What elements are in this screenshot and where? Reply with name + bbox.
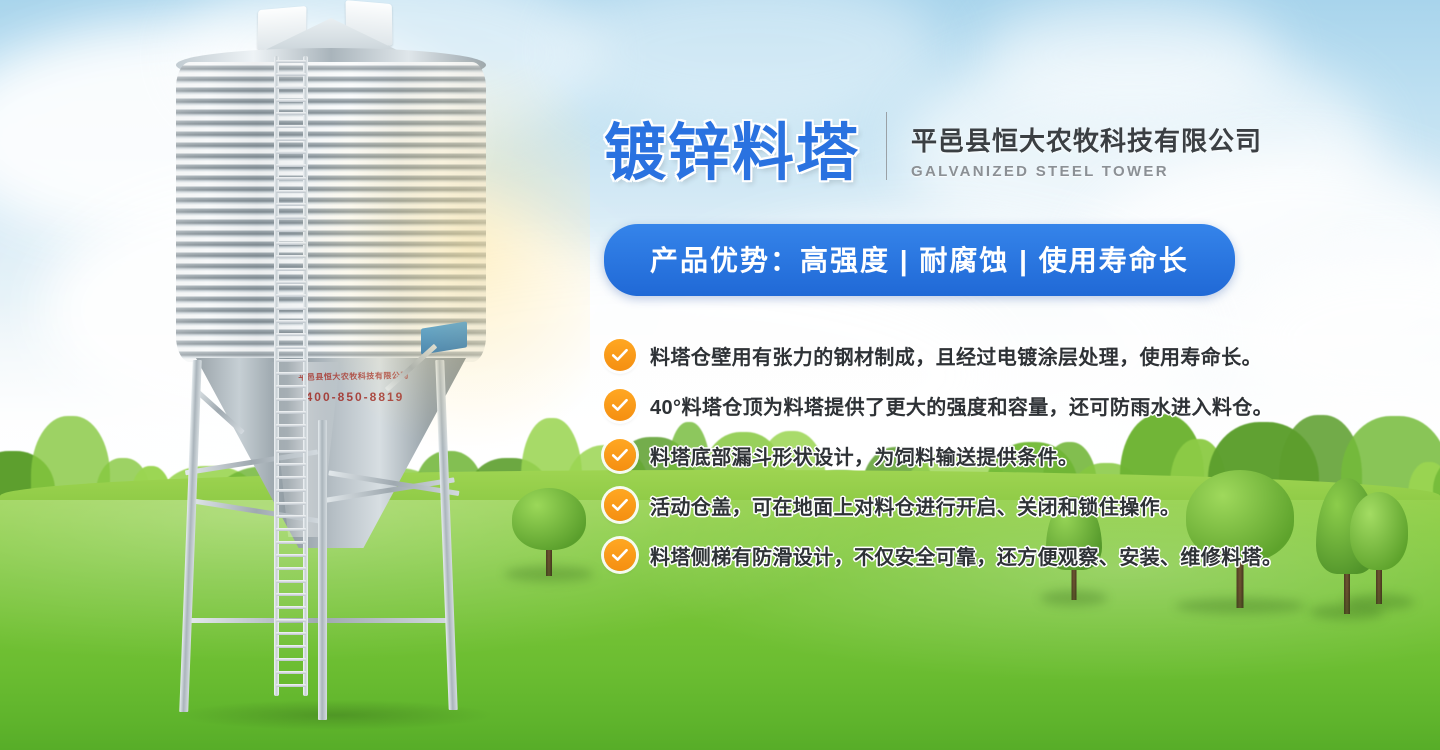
ladder-rung — [276, 632, 306, 635]
ladder-rung — [276, 554, 306, 557]
feature-text: 活动仓盖，可在地面上对料仓进行开启、关闭和锁住操作。 — [650, 491, 1180, 520]
ladder-rung — [276, 307, 306, 310]
ladder-rung — [276, 281, 306, 284]
silo-side-ladder — [274, 56, 308, 696]
hero-banner: 平邑县恒大农牧科技有限公司 400-850-8819 镀锌料塔 平邑县恒大农牧科… — [0, 0, 1440, 750]
tree-shadow — [1344, 594, 1414, 610]
ladder-rung — [276, 99, 306, 102]
ladder-rung — [276, 242, 306, 245]
tree-shadow — [1040, 590, 1107, 606]
check-circle-icon — [604, 539, 636, 571]
ladder-rung — [276, 73, 306, 76]
ladder-rung — [276, 125, 306, 128]
ladder-rung — [276, 177, 306, 180]
ladder-rung — [276, 138, 306, 141]
feature-item: 40°料塔仓顶为料塔提供了更大的强度和容量，还可防雨水进入料仓。 — [604, 380, 1304, 430]
company-name-en: GALVANIZED STEEL TOWER — [911, 163, 1262, 180]
ladder-rung — [276, 671, 306, 674]
title-divider — [886, 112, 887, 180]
ladder-rung — [276, 190, 306, 193]
ladder-rung — [276, 398, 306, 401]
advantage-banner: 产品优势：高强度 | 耐腐蚀 | 使用寿命长 — [604, 224, 1235, 296]
ladder-rung — [276, 502, 306, 505]
ladder-rung — [276, 255, 306, 258]
feature-item: 料塔仓壁用有张力的钢材制成，且经过电镀涂层处理，使用寿命长。 — [604, 330, 1304, 380]
ladder-rung — [276, 463, 306, 466]
tree — [1350, 492, 1408, 604]
ladder-rung — [276, 268, 306, 271]
page-title: 镀锌料塔 — [604, 122, 860, 186]
silo-leg — [179, 360, 202, 712]
feature-item: 活动仓盖，可在地面上对料仓进行开启、关闭和锁住操作。 — [604, 480, 1304, 530]
ladder-rung — [276, 320, 306, 323]
ladder-rung — [276, 164, 306, 167]
ladder-rung — [276, 593, 306, 596]
silo-ground-shadow — [180, 700, 490, 730]
ladder-rung — [276, 424, 306, 427]
ladder-rung — [276, 372, 306, 375]
ladder-rung — [276, 60, 306, 63]
ladder-rung — [276, 385, 306, 388]
tree-crown — [512, 488, 586, 550]
ladder-rung — [276, 476, 306, 479]
check-circle-icon — [604, 439, 636, 471]
tree-shadow — [505, 566, 594, 582]
feature-text: 料塔底部漏斗形状设计，为饲料输送提供条件。 — [650, 441, 1078, 470]
title-row: 镀锌料塔 平邑县恒大农牧科技有限公司 GALVANIZED STEEL TOWE… — [604, 112, 1304, 186]
ladder-rung — [276, 606, 306, 609]
ladder-rung — [276, 151, 306, 154]
cloud-shape — [560, 0, 940, 130]
ladder-rung — [276, 489, 306, 492]
feature-item: 料塔侧梯有防滑设计，不仅安全可靠，还方便观察、安装、维修料塔。 — [604, 530, 1304, 580]
feature-item: 料塔底部漏斗形状设计，为饲料输送提供条件。 — [604, 430, 1304, 480]
feature-text: 料塔仓壁用有张力的钢材制成，且经过电镀涂层处理，使用寿命长。 — [650, 341, 1262, 370]
check-circle-icon — [604, 339, 636, 371]
ladder-rung — [276, 216, 306, 219]
feature-text: 料塔侧梯有防滑设计，不仅安全可靠，还方便观察、安装、维修料塔。 — [650, 541, 1282, 570]
ladder-rung — [276, 515, 306, 518]
ladder-rung — [276, 658, 306, 661]
ladder-rung — [276, 203, 306, 206]
ladder-rung — [276, 346, 306, 349]
hero-content: 镀锌料塔 平邑县恒大农牧科技有限公司 GALVANIZED STEEL TOWE… — [604, 112, 1304, 580]
ladder-rung — [276, 619, 306, 622]
ladder-rung — [276, 450, 306, 453]
feed-silo-tower-image: 平邑县恒大农牧科技有限公司 400-850-8819 — [150, 0, 510, 750]
ladder-rung — [276, 684, 306, 687]
feature-text: 40°料塔仓顶为料塔提供了更大的强度和容量，还可防雨水进入料仓。 — [650, 391, 1273, 420]
ladder-rung — [276, 567, 306, 570]
ladder-rung — [276, 411, 306, 414]
ladder-rung — [276, 229, 306, 232]
ladder-rung — [276, 359, 306, 362]
ladder-rung — [276, 86, 306, 89]
ladder-rung — [276, 294, 306, 297]
ladder-rung — [276, 437, 306, 440]
tree — [512, 488, 586, 576]
company-name: 平邑县恒大农牧科技有限公司 — [911, 125, 1262, 157]
silo-barrel — [176, 62, 486, 362]
ladder-rung — [276, 645, 306, 648]
silo-leg — [435, 360, 457, 710]
company-block: 平邑县恒大农牧科技有限公司 GALVANIZED STEEL TOWER — [911, 125, 1262, 186]
silo-leg — [318, 420, 327, 720]
check-circle-icon — [604, 489, 636, 521]
ladder-rung — [276, 333, 306, 336]
check-circle-icon — [604, 389, 636, 421]
ladder-rung — [276, 528, 306, 531]
feature-list: 料塔仓壁用有张力的钢材制成，且经过电镀涂层处理，使用寿命长。40°料塔仓顶为料塔… — [604, 330, 1304, 580]
tree-crown — [1350, 492, 1408, 570]
tree-shadow — [1175, 598, 1305, 614]
ladder-rung — [276, 112, 306, 115]
silo-phone-number: 400-850-8819 — [290, 390, 420, 404]
ladder-rung — [276, 541, 306, 544]
ladder-rung — [276, 580, 306, 583]
